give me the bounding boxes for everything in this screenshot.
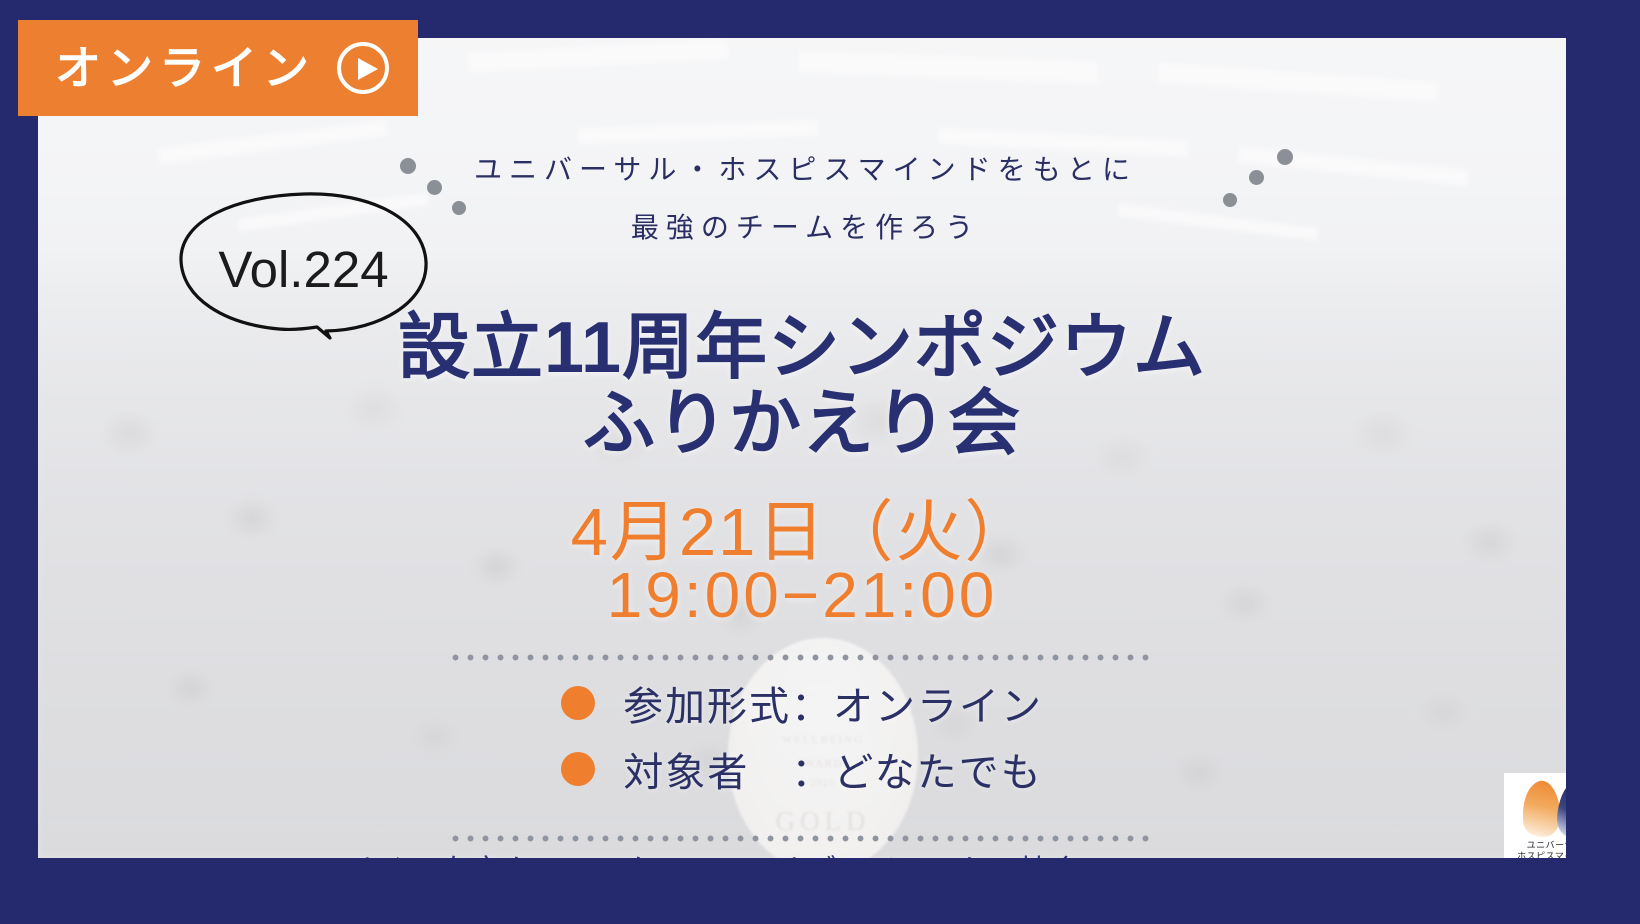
brand-name-line-2: ホスピスマインド: [1517, 851, 1566, 858]
volume-speech-bubble: Vol.224: [176, 190, 431, 340]
orange-dot-icon: [561, 752, 595, 786]
divider-top: [448, 654, 1156, 661]
presenter-credit: めぐみ在宅クリニック・エンドオブライフ・ケア協会 PRESENTS: [38, 846, 1566, 858]
play-circle-icon: [337, 42, 389, 94]
list-item: 対象者 ：どなたでも: [561, 740, 1042, 798]
brand-name-line-1: ユニバーサル: [1527, 840, 1566, 851]
photo-panel: WELLBEING AWARDS 2025 GOLD ユニバーサル・ホスピスマイ…: [38, 38, 1566, 858]
event-time: 19:00−21:00: [38, 558, 1566, 632]
orange-dot-icon: [561, 686, 595, 720]
divider-bottom: [448, 835, 1156, 842]
event-title-line-2: ふりかえり会: [38, 386, 1566, 464]
list-item: 参加形式：オンライン: [561, 674, 1043, 732]
info-item-format: 参加形式：オンライン: [623, 674, 1043, 732]
heart-petals-icon: [1522, 779, 1566, 837]
volume-label: Vol.224: [176, 240, 431, 299]
brand-logo: ユニバーサル ホスピスマインド UNIVERSAL HOSPICE MINDSE…: [1504, 773, 1566, 858]
online-badge-label: オンライン: [47, 45, 315, 91]
subtitle-line-1: ユニバーサル・ホスピスマインドをもとに: [38, 148, 1566, 188]
event-flyer: WELLBEING AWARDS 2025 GOLD ユニバーサル・ホスピスマイ…: [0, 0, 1640, 924]
info-item-audience: 対象者 ：どなたでも: [623, 740, 1042, 798]
online-badge: オンライン: [18, 20, 418, 116]
info-list: 参加形式：オンライン 対象者 ：どなたでも: [38, 674, 1566, 798]
